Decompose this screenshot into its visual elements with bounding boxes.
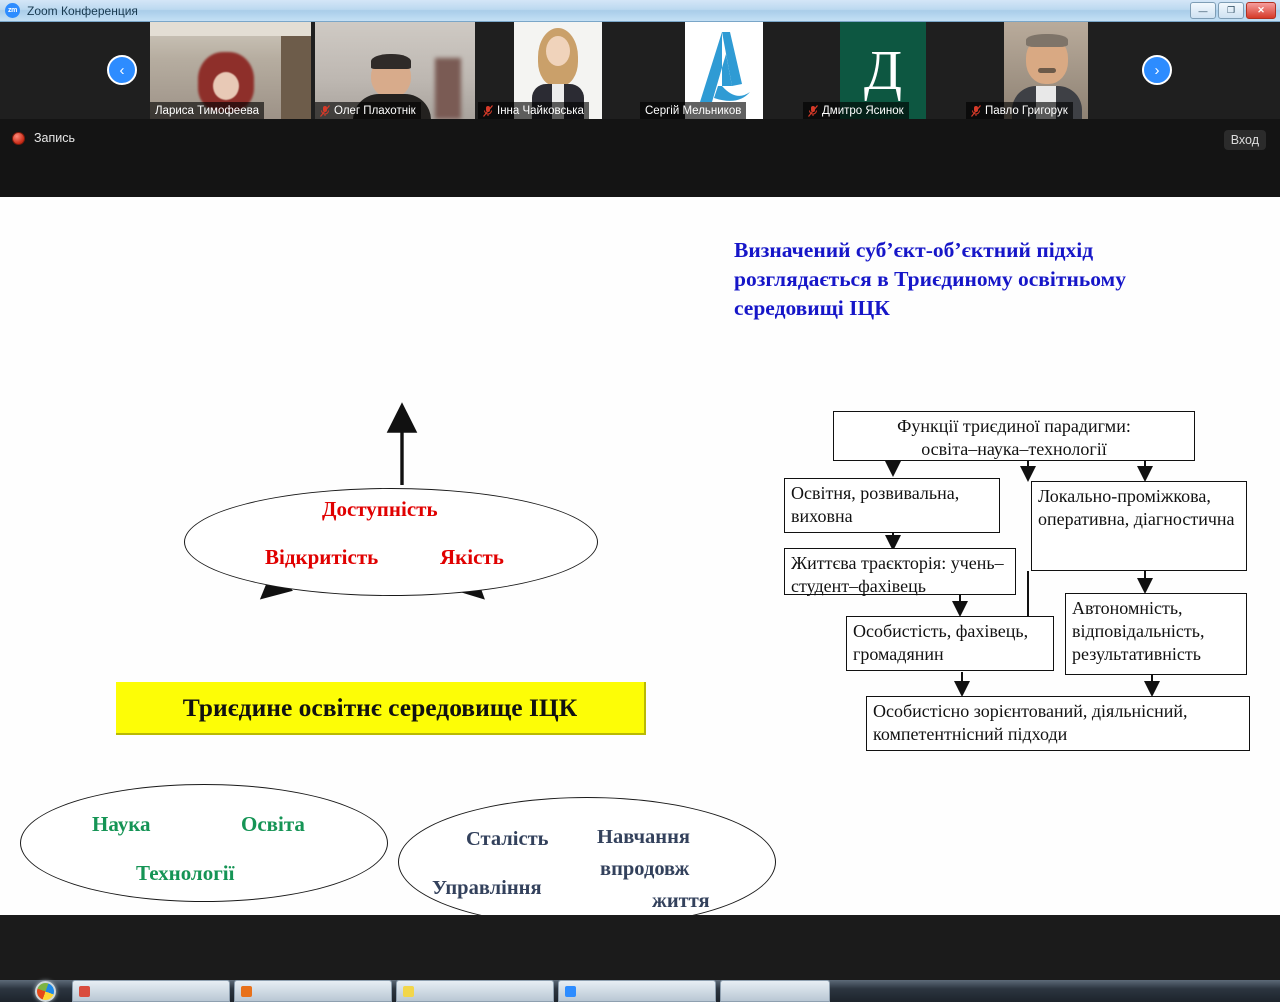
ellipse-bl-line1b: Освіта xyxy=(241,812,305,837)
participant-name-badge: Олег Плахотнік xyxy=(315,102,421,119)
window-controls: — ❐ ✕ xyxy=(1190,2,1280,19)
ellipse-br-e: Управління xyxy=(432,877,542,900)
participant-name: Сергій Мельников xyxy=(645,105,741,117)
ellipse-top-line2a: Відкритість xyxy=(265,545,378,570)
participant-tile[interactable]: Павло Григорук xyxy=(966,22,1129,119)
app-icon xyxy=(403,986,414,997)
ellipse-br-d: життя xyxy=(652,890,710,913)
ellipse-bl-line1a: Наука xyxy=(92,812,151,837)
app-icon xyxy=(79,986,90,997)
participant-name-badge: Дмитро Ясинок xyxy=(803,102,909,119)
windows-taskbar xyxy=(0,980,1280,1002)
participant-name-badge: Інна Чайковська xyxy=(478,102,589,119)
flowchart-header-box: Функції триєдиної парадигми: освіта–наук… xyxy=(833,411,1195,461)
participant-name-badge: Сергій Мельников xyxy=(640,102,746,119)
participant-name: Павло Григорук xyxy=(985,105,1068,117)
window-title: Zoom Конференция xyxy=(27,4,138,18)
participant-name: Олег Плахотнік xyxy=(334,105,416,117)
participant-tile[interactable]: Інна Чайковська xyxy=(478,22,638,119)
participant-name: Лариса Тимофеева xyxy=(155,105,259,117)
participant-name-badge: Павло Григорук xyxy=(966,102,1073,119)
taskbar-item[interactable] xyxy=(558,980,716,1002)
center-highlight-label: Триєдине освітнє середовище ІЦК xyxy=(183,693,578,723)
mic-muted-icon xyxy=(483,105,493,117)
flowchart-box-autonomy: Автономність, відповідальність, результа… xyxy=(1065,593,1247,675)
taskbar-item[interactable] xyxy=(720,980,830,1002)
minimize-button[interactable]: — xyxy=(1190,2,1216,19)
flowchart-box-education: Освітня, розвивальна, виховна xyxy=(784,478,1000,533)
participant-name: Інна Чайковська xyxy=(497,105,584,117)
ellipse-br-b: Навчання xyxy=(597,826,690,849)
next-participants-button[interactable]: › xyxy=(1142,55,1172,85)
participant-name: Дмитро Ясинок xyxy=(822,105,904,117)
slide-title: Визначений суб’єкт-об’єктний підхід розг… xyxy=(734,236,1234,323)
center-highlight-box: Триєдине освітнє середовище ІЦК xyxy=(116,682,646,735)
avatar-initial: Д xyxy=(864,43,902,99)
shared-slide: Визначений суб’єкт-об’єктний підхід розг… xyxy=(0,197,1280,915)
app-icon xyxy=(565,986,576,997)
flowchart-box-trajectory: Життєва траєкторія: учень–студент–фахіве… xyxy=(784,548,1016,595)
participant-video-strip: ‹ › Лариса Тимофеева Олег Плахотнік xyxy=(0,22,1280,119)
participant-tile[interactable]: Д Дмитро Ясинок xyxy=(803,22,963,119)
flowchart-box-approach: Особистісно зорієнтований, діяльнісний, … xyxy=(866,696,1250,751)
start-orb-icon[interactable] xyxy=(22,980,68,1002)
close-button[interactable]: ✕ xyxy=(1246,2,1276,19)
participant-name-badge: Лариса Тимофеева xyxy=(150,102,264,119)
prev-participants-button[interactable]: ‹ xyxy=(107,55,137,85)
mic-muted-icon xyxy=(320,105,330,117)
login-button[interactable]: Вход xyxy=(1224,130,1266,150)
participant-tile[interactable]: Лариса Тимофеева xyxy=(150,22,311,119)
zoom-toolbar: Запись Вход xyxy=(0,119,1280,197)
zoom-logo-icon: zm xyxy=(5,3,20,18)
ellipse-top-line2b: Якість xyxy=(440,545,504,570)
taskbar-item[interactable] xyxy=(234,980,392,1002)
restore-button[interactable]: ❐ xyxy=(1218,2,1244,19)
recording-label: Запись xyxy=(34,131,75,145)
flowchart-header-line2: освіта–наука–технології xyxy=(840,438,1188,461)
ellipse-br-c: впродовж xyxy=(600,858,689,881)
flowchart-box-person: Особистість, фахівець, громадянин xyxy=(846,616,1054,671)
record-dot-icon xyxy=(12,132,25,145)
flowchart-box-local: Локально-проміжкова, оперативна, діагнос… xyxy=(1031,481,1247,571)
flowchart-header-line1: Функції триєдиної парадигми: xyxy=(840,415,1188,438)
ellipse-br-a: Сталість xyxy=(466,828,549,851)
app-icon xyxy=(241,986,252,997)
participant-tile[interactable]: Сергій Мельников xyxy=(640,22,800,119)
taskbar-item[interactable] xyxy=(396,980,554,1002)
ellipse-bl-line2: Технології xyxy=(136,861,234,886)
mic-muted-icon xyxy=(971,105,981,117)
participant-tile[interactable]: Олег Плахотнік xyxy=(315,22,475,119)
taskbar-item[interactable] xyxy=(72,980,230,1002)
recording-indicator[interactable]: Запись xyxy=(12,131,75,145)
mic-muted-icon xyxy=(808,105,818,117)
ellipse-top-line1: Доступність xyxy=(322,497,438,522)
logo-letter-a-icon xyxy=(692,28,756,112)
window-title-bar: zm Zoom Конференция — ❐ ✕ xyxy=(0,0,1280,22)
